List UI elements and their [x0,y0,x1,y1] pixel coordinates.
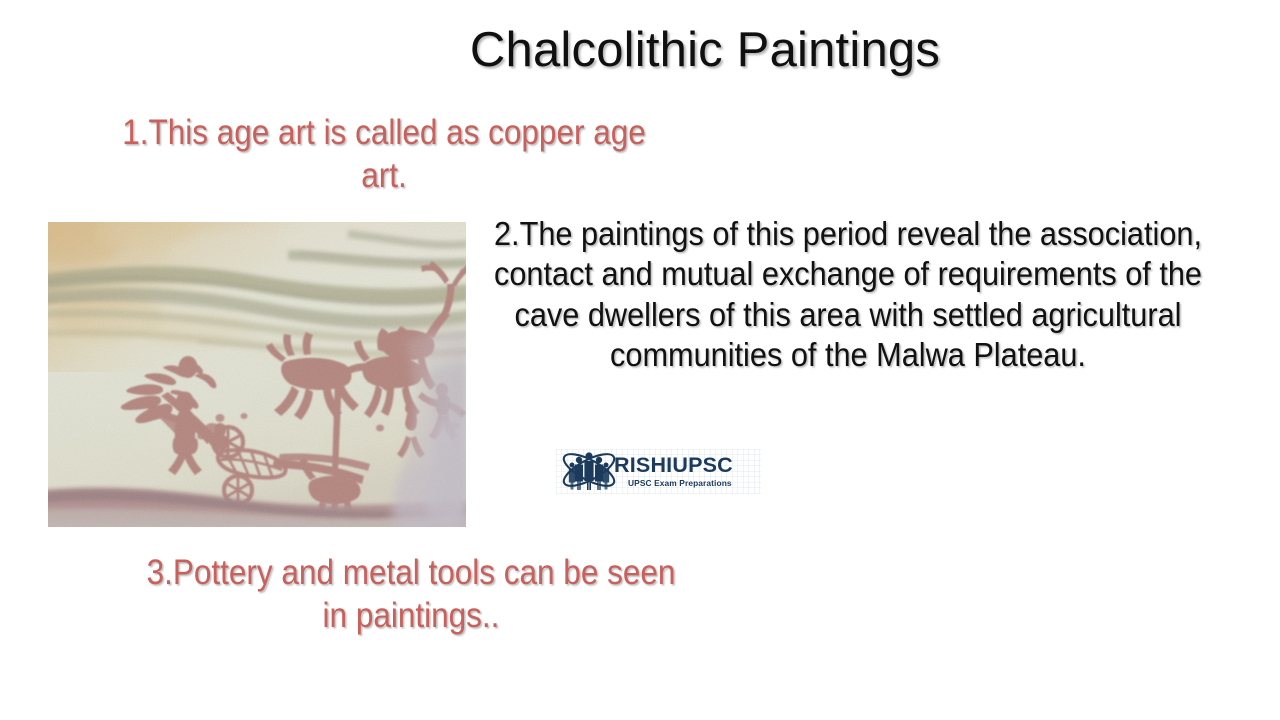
watermark-tagline-text: UPSC Exam Preparations [628,478,732,488]
bullet-item-3: 3.Pottery and metal tools can be seen in… [24,552,798,637]
bullet-item-1: 1.This age art is called as copper age a… [24,112,744,197]
page-title: Chalcolithic Paintings [0,22,1280,78]
slide-canvas: Chalcolithic Paintings 1.This age art is… [0,0,1280,720]
watermark-brand-text: RISHIUPSC [614,453,733,477]
rishiupsc-watermark-logo: RISHIUPSC UPSC Exam Preparations [556,449,761,494]
bullet-item-2: 2.The paintings of this period reveal th… [476,214,1220,375]
rock-art-image [48,222,466,527]
